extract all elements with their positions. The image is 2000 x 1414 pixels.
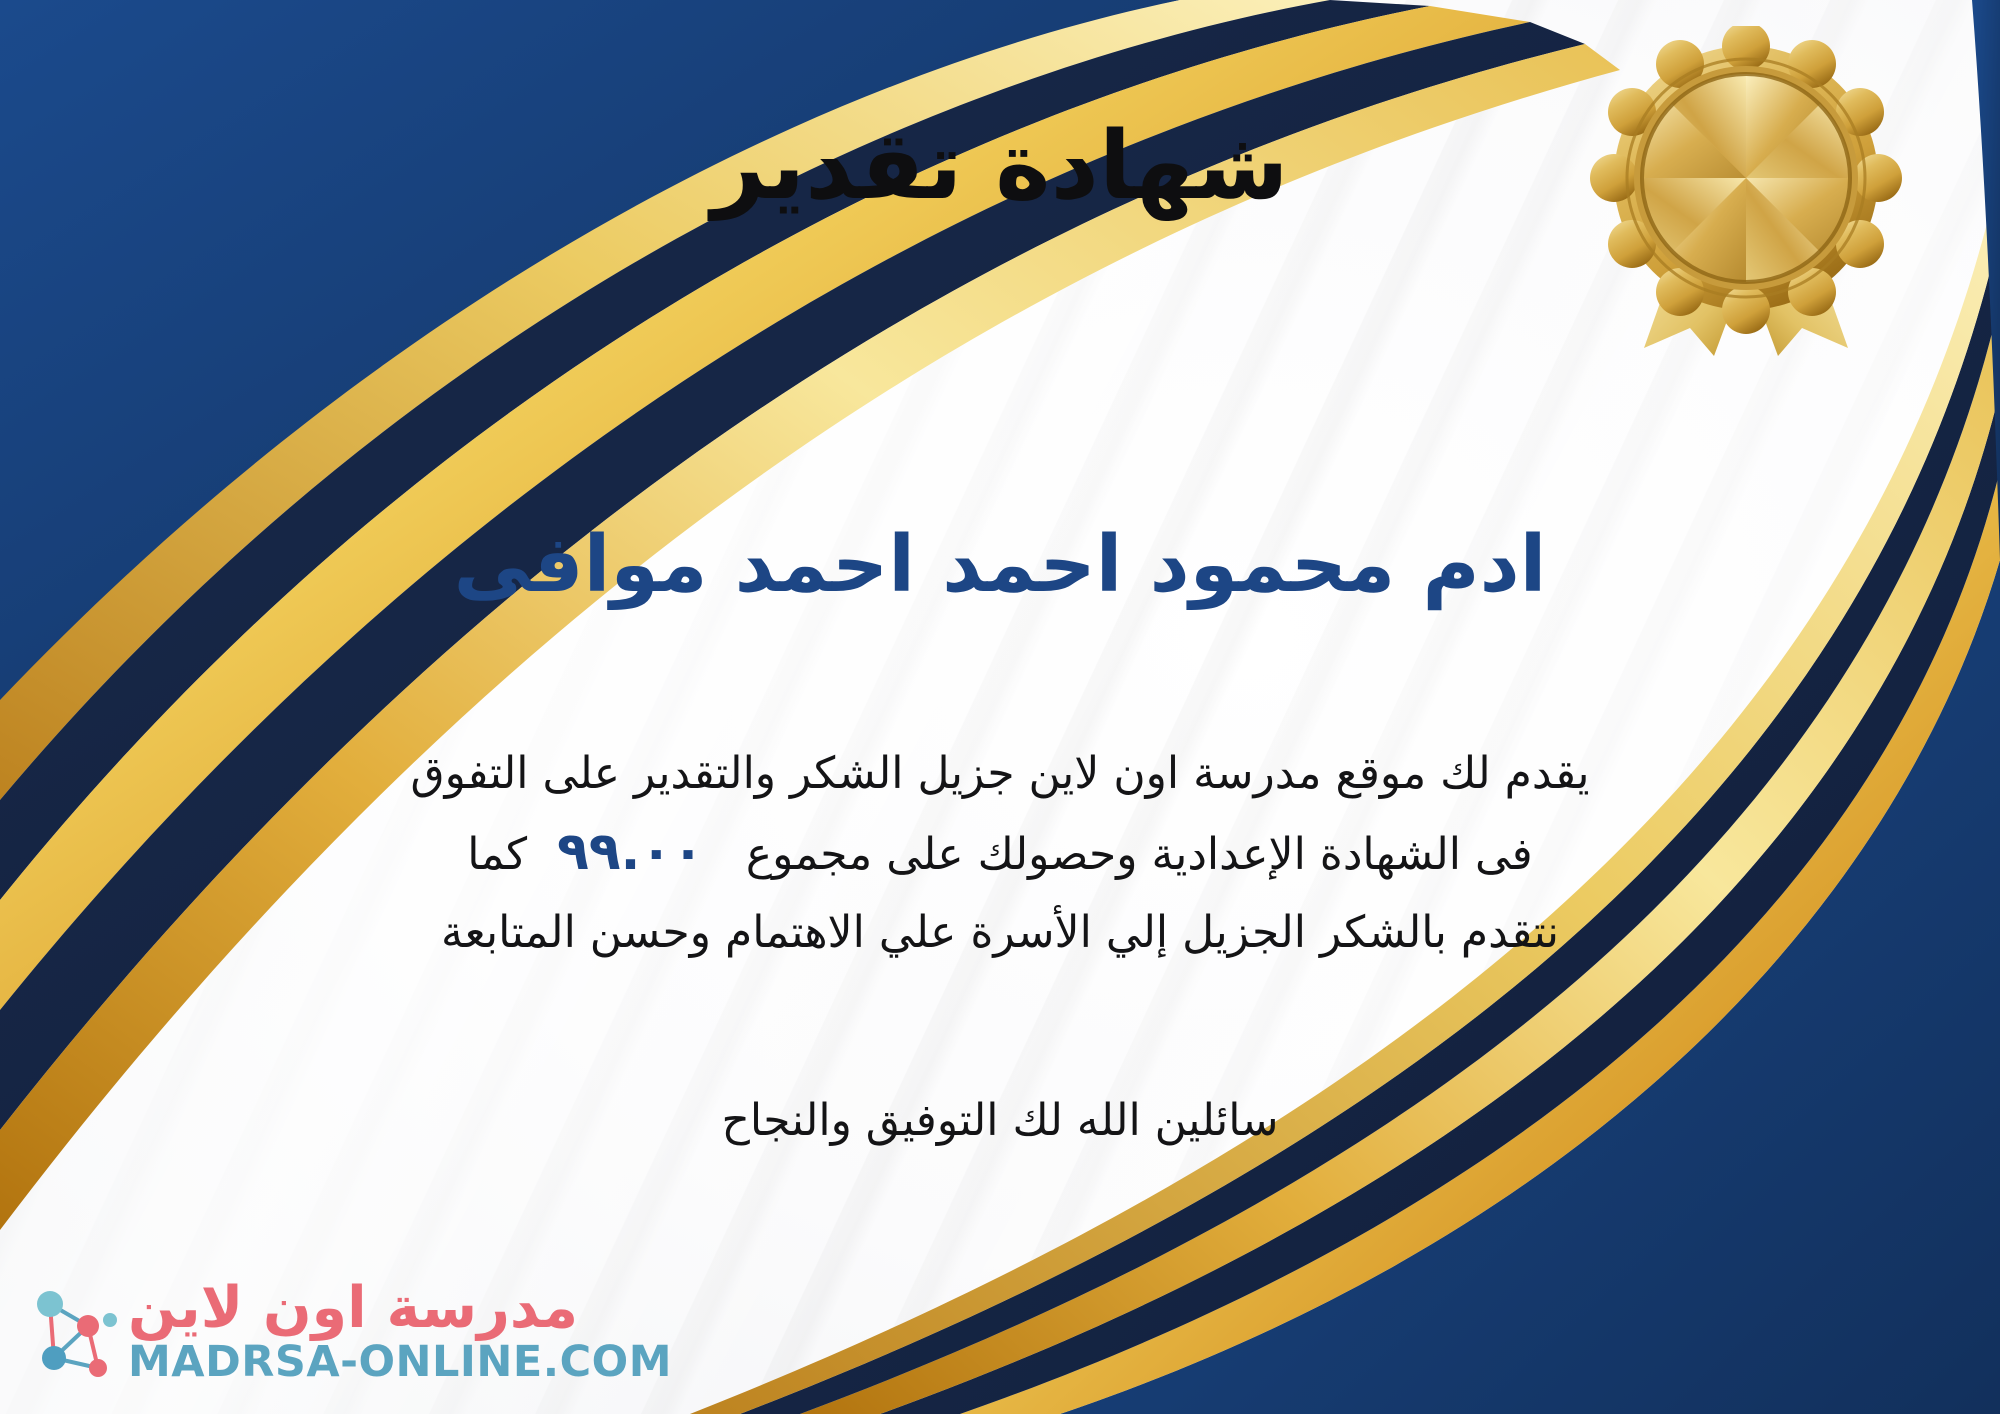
gold-award-seal-icon [1586, 26, 1906, 356]
body-line-1: يقدم لك موقع مدرسة اون لاين جزيل الشكر و… [50, 735, 1950, 813]
grade-value: ٩٩.٠٠ [527, 813, 746, 891]
recipient-name: ادم محمود احمد احمد موافى [0, 520, 2000, 610]
closing-wish-text: سائلين الله لك التوفيق والنجاح [0, 1095, 2000, 1146]
brand-text-block: مدرسة اون لاين MADRSA-ONLINE.COM [128, 1279, 672, 1386]
body-line-2-after-grade: كما [467, 829, 527, 880]
body-line-2: فى الشهادة الإعدادية وحصولك على مجموع٩٩.… [50, 813, 1950, 894]
brand-name-arabic: مدرسة اون لاين [128, 1279, 578, 1339]
body-line-2-before-grade: فى الشهادة الإعدادية وحصولك على مجموع [746, 829, 1533, 880]
body-line-3: نتقدم بالشكر الجزيل إلي الأسرة علي الاهت… [50, 894, 1950, 972]
network-nodes-icon [26, 1280, 118, 1384]
brand-logo[interactable]: مدرسة اون لاين MADRSA-ONLINE.COM [26, 1279, 672, 1386]
brand-website: MADRSA-ONLINE.COM [128, 1339, 672, 1386]
seal-face [1642, 74, 1850, 282]
certificate-body-text: يقدم لك موقع مدرسة اون لاين جزيل الشكر و… [50, 735, 1950, 972]
certificate-page: شهادة تقدير ادم محمود احمد احمد موافى يق… [0, 0, 2000, 1414]
